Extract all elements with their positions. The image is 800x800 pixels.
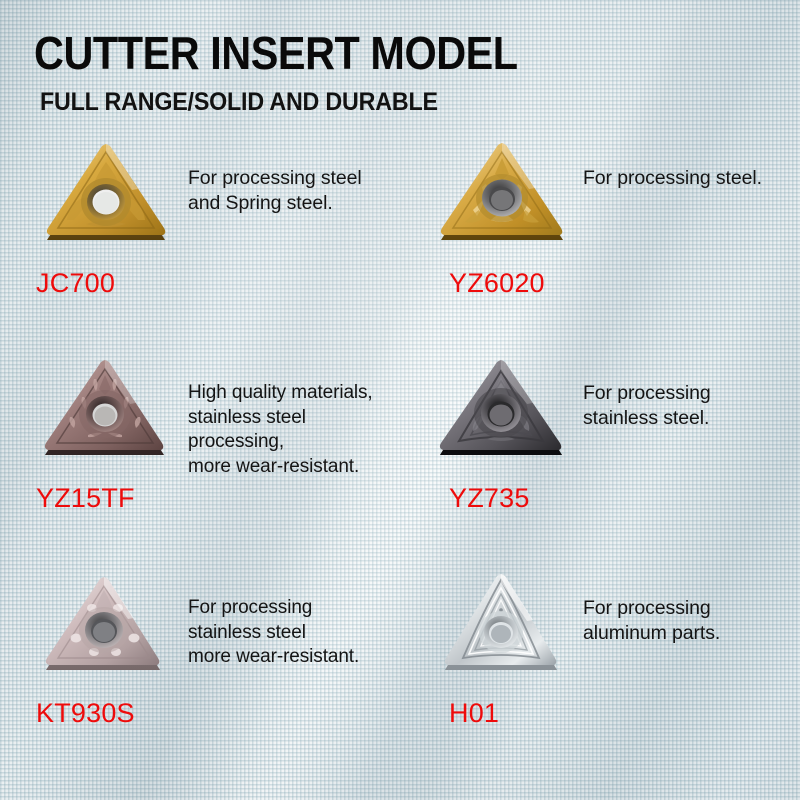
triangular-carbide-insert-polished-silver-icon xyxy=(429,570,579,695)
product-card-yz15tf[interactable]: High quality materials, stainless steel … xyxy=(0,355,405,570)
page-subtitle: FULL RANGE/SOLID AND DURABLE xyxy=(40,90,534,115)
triangular-carbide-insert-rose-silver-icon xyxy=(34,570,184,695)
triangular-carbide-insert-mauve-icon xyxy=(34,355,184,480)
product-card-yz6020[interactable]: For processing steel. YZ6020 xyxy=(405,140,800,355)
product-model-label: H01 xyxy=(449,698,499,729)
product-model-label: YZ735 xyxy=(449,483,530,514)
product-model-label: YZ15TF xyxy=(36,483,135,514)
product-model-label: YZ6020 xyxy=(449,268,545,299)
product-description: For processing stainless steel more wear… xyxy=(188,570,359,670)
infographic-page: CUTTER INSERT MODEL FULL RANGE/SOLID AND… xyxy=(0,0,800,800)
product-description: For processing steel and Spring steel. xyxy=(188,140,362,217)
triangular-carbide-insert-gold-icon xyxy=(429,140,579,265)
triangular-carbide-insert-gold-icon xyxy=(34,140,184,265)
page-title: CUTTER INSERT MODEL xyxy=(34,30,518,76)
product-row: High quality materials, stainless steel … xyxy=(0,355,800,570)
header: CUTTER INSERT MODEL FULL RANGE/SOLID AND… xyxy=(34,30,571,115)
product-description: For processing stainless steel. xyxy=(583,355,711,432)
product-card-h01[interactable]: For processing aluminum parts. H01 xyxy=(405,570,800,785)
product-description: For processing steel. xyxy=(583,140,762,191)
product-card-yz735[interactable]: For processing stainless steel. YZ735 xyxy=(405,355,800,570)
product-row: For processing steel and Spring steel. J… xyxy=(0,140,800,355)
product-card-jc700[interactable]: For processing steel and Spring steel. J… xyxy=(0,140,405,355)
product-card-kt930s[interactable]: For processing stainless steel more wear… xyxy=(0,570,405,785)
product-model-label: JC700 xyxy=(36,268,115,299)
triangular-carbide-insert-graphite-icon xyxy=(429,355,579,480)
product-description: High quality materials, stainless steel … xyxy=(188,355,405,480)
product-model-label: KT930S xyxy=(36,698,135,729)
product-grid: For processing steel and Spring steel. J… xyxy=(0,140,800,785)
product-row: For processing stainless steel more wear… xyxy=(0,570,800,785)
product-description: For processing aluminum parts. xyxy=(583,570,720,647)
